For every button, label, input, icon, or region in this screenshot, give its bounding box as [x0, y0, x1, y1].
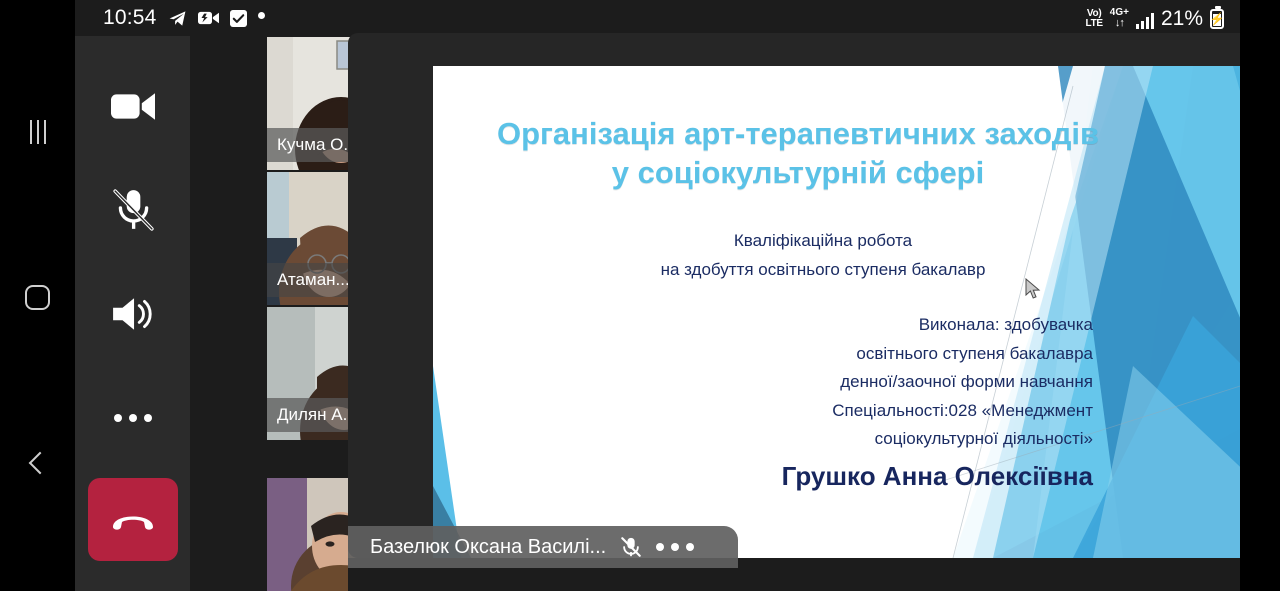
camera-icon — [111, 92, 155, 121]
signal-strength-icon — [1136, 13, 1154, 29]
battery-percent-label: 21% — [1161, 8, 1203, 29]
back-chevron-icon — [29, 452, 52, 475]
more-options-button[interactable] — [75, 388, 190, 448]
slide-author: Грушко Анна Олексіївна — [713, 461, 1093, 492]
screen-right-bezel — [1240, 0, 1280, 591]
more-options-icon — [114, 414, 152, 422]
mouse-cursor — [1025, 278, 1043, 300]
presentation-slide: Організація арт-терапевтичних заходів у … — [433, 66, 1240, 558]
toggle-microphone-button[interactable] — [75, 180, 190, 240]
microphone-muted-icon[interactable] — [620, 536, 642, 558]
telegram-icon — [168, 9, 187, 28]
speaker-more-options-button[interactable] — [656, 543, 694, 551]
network-type-indicator: 4G+ ↓↑ — [1110, 8, 1129, 29]
call-controls-rail — [75, 36, 190, 591]
battery-charging-icon: ⚡ — [1210, 9, 1224, 29]
active-speaker-name: Базелюк Оксана Василі... — [370, 536, 606, 559]
microphone-muted-icon — [112, 188, 154, 232]
status-clock: 10:54 — [103, 6, 157, 30]
android-navigation-rail — [0, 0, 75, 591]
phone-screen: 10:54 — [0, 0, 1280, 591]
shared-screen-stage[interactable]: Організація арт-терапевтичних заходів у … — [348, 33, 1240, 558]
back-button[interactable] — [16, 441, 60, 485]
slide-info-line2: освітнього ступеня бакалавра — [713, 340, 1093, 369]
video-recorder-icon — [198, 10, 219, 26]
participant-name: Дилян А... — [277, 405, 357, 425]
video-call-app: 10:54 — [75, 0, 1240, 591]
status-bar-left: 10:54 — [103, 6, 265, 30]
home-button[interactable] — [16, 275, 60, 319]
slide-info-line3: денної/заочної форми навчання — [713, 368, 1093, 397]
slide-title: Організація арт-терапевтичних заходів у … — [493, 114, 1103, 192]
slide-info-line4: Спеціальності:028 «Менеджмент — [713, 397, 1093, 426]
slide-subtitle-line2: на здобуття освітнього ступеня бакалавр — [553, 255, 1093, 284]
status-bar-right: Vo)LTE 4G+ ↓↑ 21% ⚡ — [1086, 8, 1224, 29]
status-bar: 10:54 — [75, 0, 1240, 36]
participant-name: Атаман... — [277, 270, 350, 290]
participant-name: Кучма О... — [277, 135, 358, 155]
slide-info-line5: соціокультурної діяльності» — [713, 425, 1093, 454]
volte-icon: Vo)LTE — [1086, 9, 1103, 29]
slide-subtitle-line1: Кваліфікаційна робота — [553, 226, 1093, 255]
checkbox-icon — [230, 10, 247, 27]
hang-up-icon — [110, 509, 156, 531]
home-icon — [25, 285, 50, 310]
speaker-icon — [111, 296, 155, 332]
recent-apps-icon — [30, 120, 46, 144]
slide-subtitle: Кваліфікаційна робота на здобуття освітн… — [553, 226, 1093, 284]
slide-info-line1: Виконала: здобувачка — [713, 311, 1093, 340]
slide-info-block: Виконала: здобувачка освітнього ступеня … — [713, 311, 1093, 454]
active-speaker-bar: Базелюк Оксана Василі... — [348, 526, 738, 568]
dot-icon — [258, 12, 265, 19]
toggle-speaker-button[interactable] — [75, 284, 190, 344]
recent-apps-button[interactable] — [16, 110, 60, 154]
toggle-camera-button[interactable] — [75, 76, 190, 136]
hang-up-button[interactable] — [88, 478, 178, 561]
